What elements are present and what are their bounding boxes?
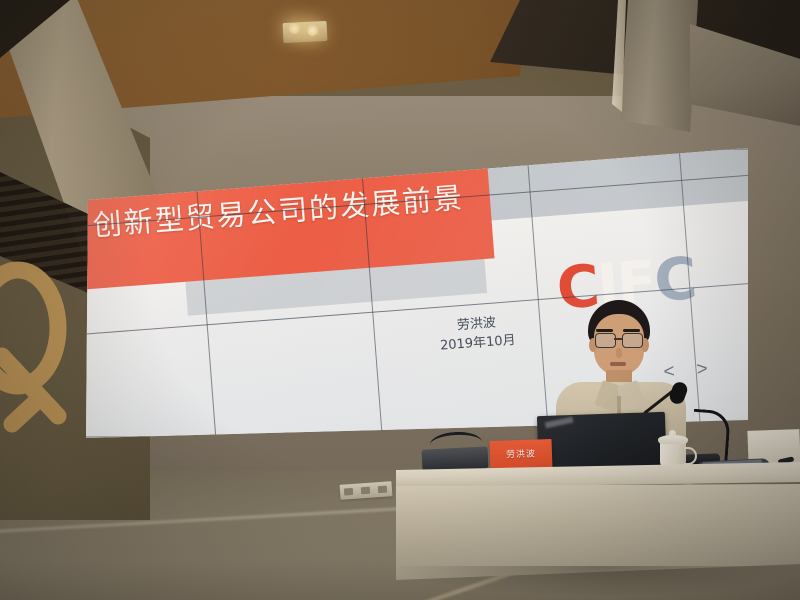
teacup-lid-knob: [669, 430, 676, 437]
speaker-mouth: [610, 362, 626, 366]
nameplate: 劳洪波: [489, 439, 552, 471]
speaker-nose: [616, 348, 622, 358]
speaker-eyebrow: [623, 329, 640, 332]
ceiling-spotlight: [306, 24, 319, 37]
glasses-lens-icon: [622, 333, 643, 348]
presentation-room-photo: 创新型贸易公司的发展前景 劳洪波 2019年10月 CIFC <>: [0, 0, 800, 600]
wall-q-logo-icon: [0, 248, 92, 438]
slide-next-arrow-icon[interactable]: >: [696, 357, 731, 380]
ceiling-spotlight: [288, 22, 301, 35]
concrete-column: [620, 0, 698, 132]
laptop-screen-glare: [545, 417, 574, 429]
presenter-desk: 劳洪波: [396, 462, 800, 600]
speaker-eyebrow: [596, 329, 613, 332]
nameplate-label: 劳洪波: [490, 446, 552, 461]
av-control-unit[interactable]: [421, 446, 488, 471]
socket-port: [378, 486, 387, 494]
socket-port: [361, 487, 370, 495]
glasses-lens-icon: [595, 333, 616, 348]
glasses-bridge: [614, 338, 622, 340]
desk-shadow: [396, 566, 800, 596]
socket-port: [344, 488, 353, 496]
